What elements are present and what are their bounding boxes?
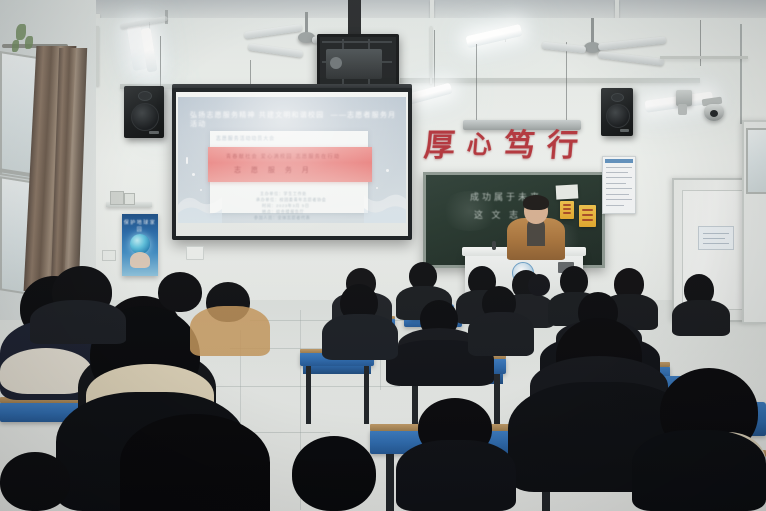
speaker-badge-left bbox=[149, 131, 159, 134]
notice-line-8 bbox=[606, 205, 624, 206]
chalkboard-safety-sign bbox=[560, 201, 574, 219]
globe-graphic bbox=[130, 234, 150, 254]
desk-leg-mid-1 bbox=[306, 366, 311, 424]
slide-banner-line-2: 志 愿 服 务 月 bbox=[234, 165, 313, 175]
slide-card-header: 志愿服务活动动员大会 bbox=[216, 135, 275, 142]
earth-poster-title: 保护地球家园 bbox=[122, 219, 158, 233]
light-wire-7 bbox=[476, 44, 477, 120]
shelf-box-2 bbox=[124, 193, 135, 205]
student-body-fg-9 bbox=[632, 430, 766, 511]
light-wire-5 bbox=[700, 20, 701, 66]
notice-header-bar bbox=[605, 159, 633, 163]
motto-char-2: 心 bbox=[466, 130, 494, 161]
sign-text-line-1 bbox=[563, 204, 571, 206]
student-head-fg-12 bbox=[0, 452, 70, 511]
student-head-fg-6 bbox=[158, 272, 202, 312]
fan-rod-left bbox=[305, 12, 308, 34]
projector-lens bbox=[330, 57, 342, 69]
desk-mid-1-front bbox=[303, 366, 371, 374]
wall-sign-line-3 bbox=[582, 219, 593, 221]
door-sign-line-3 bbox=[703, 243, 729, 244]
light-wire-7b bbox=[566, 42, 567, 120]
camera-arm bbox=[678, 104, 687, 115]
door-sign bbox=[698, 226, 734, 250]
student-head-far-8 bbox=[528, 274, 550, 296]
wall-seam-mid bbox=[430, 26, 432, 84]
slide-wave-right bbox=[364, 177, 406, 223]
wall-seam-left bbox=[96, 26, 99, 86]
slide-dot-5 bbox=[186, 157, 188, 164]
speaker-badge-right bbox=[620, 129, 629, 132]
wall-outlet bbox=[102, 250, 116, 261]
speaker-woofer-right bbox=[606, 104, 630, 128]
projection-screen-surface: 弘扬志愿服务精神 共建文明和谐校园 ——志愿者服务月活动 志愿服务活动动员大会 … bbox=[176, 92, 408, 236]
notice-line-2 bbox=[606, 172, 628, 173]
motto-char-4: 行 bbox=[546, 130, 580, 161]
wall-motto: 厚 心 笃 行 bbox=[424, 130, 578, 161]
notice-line-7 bbox=[606, 199, 632, 200]
wall-speaker-left bbox=[124, 86, 164, 138]
slide-banner-line-1: 青春献社会 爱心满校园 志愿服务在行动 bbox=[226, 153, 340, 160]
shelf-box-1 bbox=[110, 191, 124, 205]
student-body-fg-10 bbox=[396, 440, 516, 511]
door-sign-line-2 bbox=[703, 238, 725, 239]
corridor-window bbox=[746, 128, 766, 194]
motto-char-1: 厚 bbox=[423, 130, 457, 161]
desk-leg-mid-2 bbox=[364, 366, 369, 424]
earth-poster: 保护地球家园 bbox=[122, 214, 158, 276]
chalkboard-paper-note bbox=[556, 184, 579, 199]
student-shoulder-fg-5 bbox=[30, 300, 126, 344]
hands-graphic bbox=[130, 252, 150, 268]
projector-mount-pole bbox=[348, 0, 361, 36]
notice-line-1 bbox=[606, 167, 632, 168]
notice-line-5 bbox=[606, 188, 632, 189]
plant-decoration bbox=[16, 24, 26, 40]
student-body-mid-3 bbox=[468, 312, 534, 356]
light-wire-4 bbox=[434, 30, 435, 92]
camera-lens bbox=[710, 110, 718, 117]
fan-rod-right bbox=[591, 18, 594, 44]
conduit-right bbox=[740, 24, 742, 124]
student-body-mid-2 bbox=[322, 314, 398, 360]
sign-text-line-3 bbox=[563, 212, 571, 214]
wall-speaker-right bbox=[601, 88, 633, 136]
plant-decoration-2 bbox=[25, 36, 33, 49]
slide-wave-left bbox=[178, 179, 222, 223]
cage-bar-top bbox=[322, 41, 392, 43]
student-head-fg-11 bbox=[292, 436, 376, 511]
notice-line-6 bbox=[606, 194, 629, 195]
speaker-tweeter-right bbox=[611, 93, 624, 102]
wall-rail-right bbox=[400, 78, 700, 83]
slide-dot-2 bbox=[200, 189, 202, 191]
conduit-horizontal bbox=[660, 56, 748, 59]
wall-safety-sign bbox=[579, 205, 596, 227]
screen-wall-plate bbox=[186, 246, 204, 260]
notice-line-3 bbox=[606, 177, 632, 178]
student-body-fg-7 bbox=[190, 306, 270, 356]
presenter-hair bbox=[523, 195, 549, 210]
wall-sign-line-2 bbox=[582, 214, 593, 216]
desk-leg-front-1 bbox=[386, 454, 394, 511]
motto-char-3: 笃 bbox=[503, 130, 537, 161]
presentation-slide: 弘扬志愿服务精神 共建文明和谐校园 ——志愿者服务月活动 志愿服务活动动员大会 … bbox=[178, 97, 406, 223]
door-sign-line-1 bbox=[703, 233, 729, 234]
wall-sign-line-1 bbox=[582, 209, 593, 211]
classroom-scene: 弘扬志愿服务精神 共建文明和谐校园 ——志愿者服务月活动 志愿服务活动动员大会 … bbox=[0, 0, 766, 511]
student-head-fg-4 bbox=[120, 414, 270, 511]
sign-text-line-2 bbox=[563, 208, 571, 210]
notice-line-4 bbox=[606, 183, 626, 184]
notice-poster bbox=[602, 156, 636, 214]
speaker-tweeter-left bbox=[138, 91, 152, 101]
slide-dot-4 bbox=[376, 187, 378, 189]
plant-decoration-3 bbox=[12, 40, 19, 52]
student-body-far-7 bbox=[672, 300, 730, 336]
slide-dot-3 bbox=[386, 169, 389, 172]
podium-microphone bbox=[492, 241, 496, 250]
slide-heading: 弘扬志愿服务精神 共建文明和谐校园 ——志愿者服务月活动 bbox=[190, 111, 398, 129]
slide-dot-1 bbox=[192, 173, 195, 176]
speaker-woofer-left bbox=[131, 103, 159, 131]
slide-body-line-5: 参加人员：全体志愿者代表 bbox=[254, 215, 310, 221]
